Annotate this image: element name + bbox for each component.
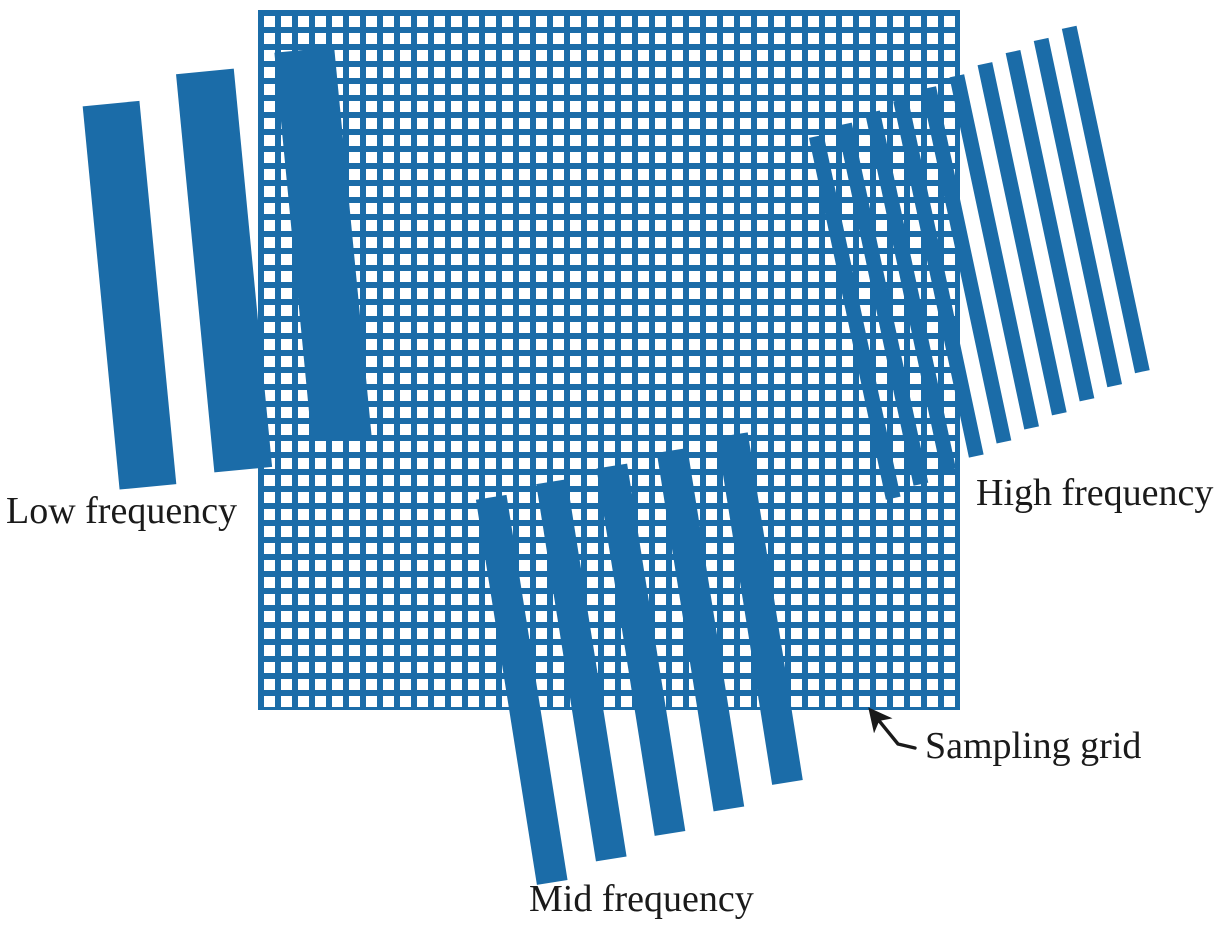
bar-low-2 — [176, 69, 272, 473]
label-sampling-grid: Sampling grid — [925, 727, 1141, 765]
label-high-frequency: High frequency — [976, 474, 1213, 512]
figure-canvas: Low frequency Mid frequency High frequen… — [0, 0, 1221, 926]
bar-low-1 — [83, 101, 177, 490]
sampling-grid — [258, 10, 960, 710]
label-mid-frequency: Mid frequency — [529, 880, 754, 918]
sampling-grid-callout-arrow — [872, 712, 915, 748]
label-low-frequency: Low frequency — [6, 492, 237, 530]
figure-svg — [0, 0, 1221, 926]
